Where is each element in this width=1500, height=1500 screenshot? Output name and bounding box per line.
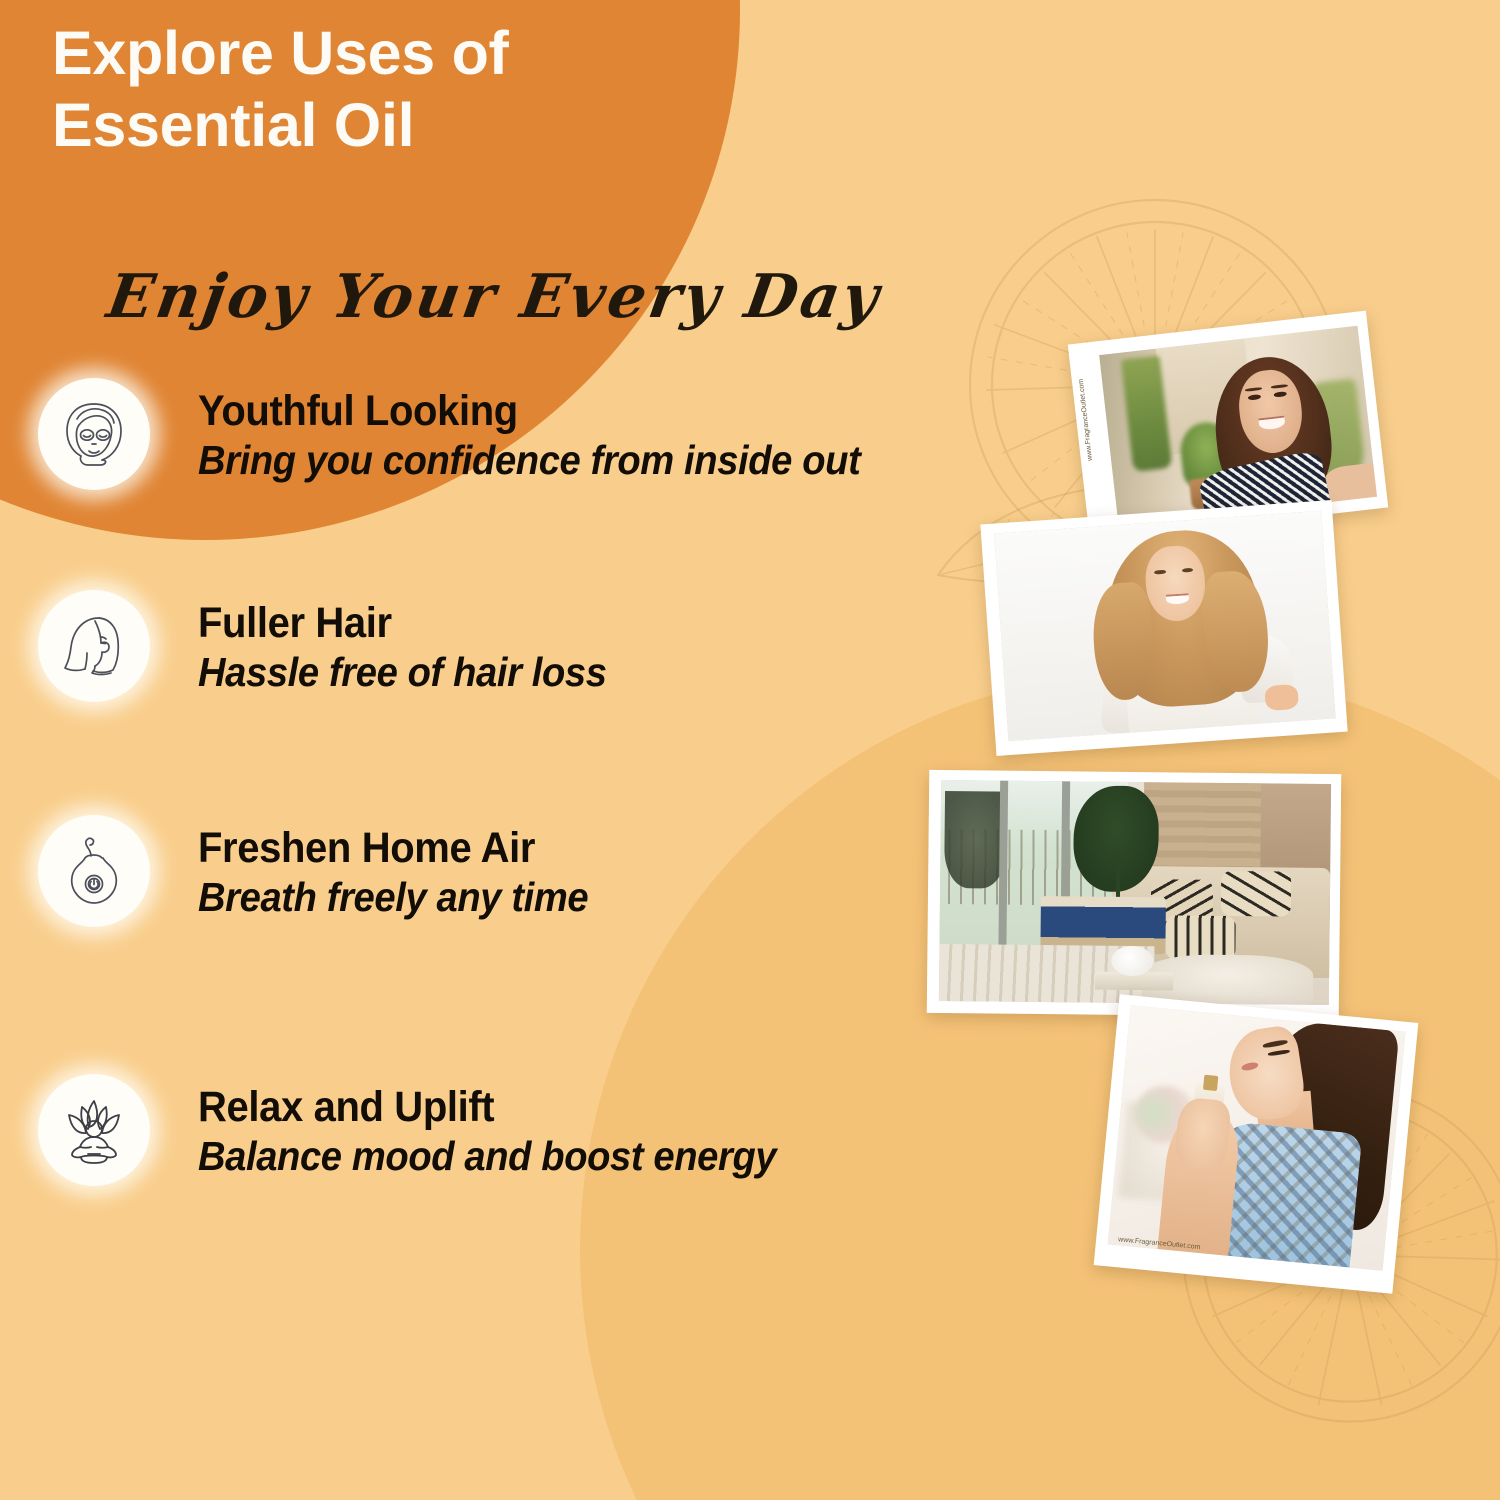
feature-subtitle: Breath freely any time <box>198 873 588 921</box>
feature-subtitle: Hassle free of hair loss <box>198 648 607 696</box>
photo-image <box>994 511 1336 741</box>
page-title-line-1: Explore Uses of <box>52 18 672 90</box>
lotus-meditation-icon <box>38 1074 150 1186</box>
feature-text-block: Relax and Uplift Balance mood and boost … <box>198 1074 820 1181</box>
feature-item-youthful-looking: Youthful Looking Bring you confidence fr… <box>38 378 910 490</box>
essential-oil-infographic: Explore Uses of Essential Oil Enjoy Your… <box>0 0 1500 1500</box>
feature-subtitle: Bring you confidence from inside out <box>198 436 860 484</box>
feature-item-freshen-home-air: Freshen Home Air Breath freely any time <box>38 815 618 927</box>
living-room-photo <box>927 770 1342 1017</box>
feature-text-block: Freshen Home Air Breath freely any time <box>198 815 618 922</box>
aroma-diffuser-icon <box>38 815 150 927</box>
facial-mask-icon <box>38 378 150 490</box>
perfume-woman-photo: www.FragranceOutlet.com <box>1094 994 1419 1294</box>
blonde-hair-woman-photo <box>980 500 1347 756</box>
photo-image <box>1099 326 1377 526</box>
feature-title: Relax and Uplift <box>198 1084 776 1130</box>
feature-title: Fuller Hair <box>198 600 607 646</box>
photo-watermark: www.FragranceOutlet.com <box>1078 378 1094 461</box>
photo-image <box>939 780 1331 1005</box>
feature-item-fuller-hair: Fuller Hair Hassle free of hair loss <box>38 590 637 702</box>
tagline: Enjoy Your Every Day <box>102 262 886 332</box>
page-title: Explore Uses of Essential Oil <box>52 18 672 162</box>
feature-title: Youthful Looking <box>198 388 860 434</box>
feature-item-relax-and-uplift: Relax and Uplift Balance mood and boost … <box>38 1074 820 1186</box>
feature-text-block: Fuller Hair Hassle free of hair loss <box>198 590 637 697</box>
page-title-line-2: Essential Oil <box>52 90 672 162</box>
feature-text-block: Youthful Looking Bring you confidence fr… <box>198 378 910 485</box>
long-hair-profile-icon <box>38 590 150 702</box>
photo-image <box>1108 1005 1406 1270</box>
feature-subtitle: Balance mood and boost energy <box>198 1132 776 1180</box>
feature-title: Freshen Home Air <box>198 825 588 871</box>
